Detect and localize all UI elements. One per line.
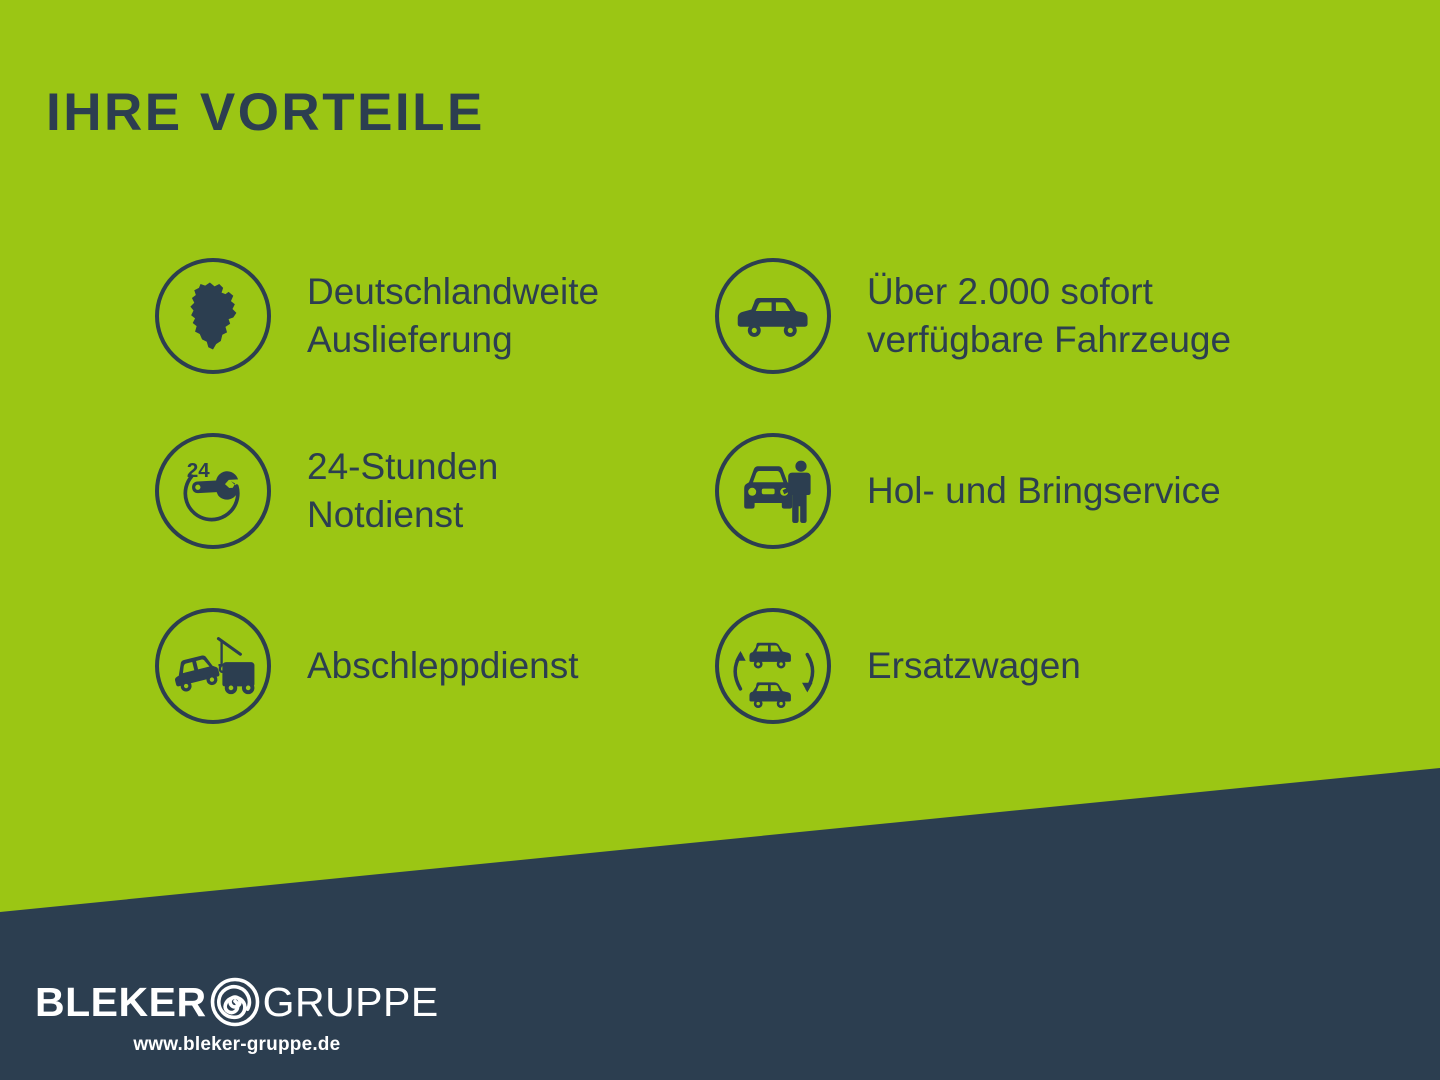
- benefit-item-24-stunden-notdienst[interactable]: 24 24-Stunden Notdienst: [155, 403, 715, 578]
- 24-hour-wrench-icon: 24: [155, 433, 271, 549]
- benefit-label-line: Auslieferung: [307, 316, 599, 363]
- benefit-label-line: Notdienst: [307, 491, 498, 538]
- benefit-label: Über 2.000 sofort verfügbare Fahrzeuge: [867, 268, 1231, 363]
- benefit-item-ersatzwagen[interactable]: Ersatzwagen: [715, 578, 1315, 753]
- logo-text-gruppe: GRUPPE: [263, 982, 439, 1023]
- benefit-label-line: verfügbare Fahrzeuge: [867, 316, 1231, 363]
- svg-text:24: 24: [187, 459, 210, 482]
- benefit-row: Deutschlandweite Auslieferung Über 2.000…: [155, 228, 1375, 403]
- slide-canvas: IHRE VORTEILE Deutschlandweite Ausliefer…: [0, 0, 1440, 1080]
- benefit-label-line: Ersatzwagen: [867, 642, 1081, 689]
- benefit-label: Ersatzwagen: [867, 642, 1081, 689]
- car-side-icon: [715, 258, 831, 374]
- benefit-label: 24-Stunden Notdienst: [307, 443, 498, 538]
- spiral-icon: [208, 975, 262, 1029]
- footer-logo-block[interactable]: BLEKER GRUPPE www.bleker-gruppe.de: [35, 977, 439, 1056]
- benefit-label: Hol- und Bringservice: [867, 467, 1221, 514]
- logo-wordmark: BLEKER GRUPPE: [35, 977, 439, 1027]
- benefit-item-verfuegbare-fahrzeuge[interactable]: Über 2.000 sofort verfügbare Fahrzeuge: [715, 228, 1315, 403]
- benefit-label-line: Deutschlandweite: [307, 268, 599, 315]
- benefit-label-line: Über 2.000 sofort: [867, 268, 1231, 315]
- benefit-item-abschleppdienst[interactable]: Abschleppdienst: [155, 578, 715, 753]
- benefit-label: Deutschlandweite Auslieferung: [307, 268, 599, 363]
- two-cars-exchange-icon: [715, 608, 831, 724]
- logo-url[interactable]: www.bleker-gruppe.de: [35, 1034, 439, 1056]
- tow-truck-icon: [155, 608, 271, 724]
- page-title: IHRE VORTEILE: [46, 86, 485, 139]
- logo-text-bleker: BLEKER: [35, 982, 207, 1023]
- benefit-label-line: Hol- und Bringservice: [867, 467, 1221, 514]
- benefit-row: 24 24-Stunden Notdienst: [155, 403, 1375, 578]
- benefit-label-line: Abschleppdienst: [307, 642, 579, 689]
- benefits-grid: Deutschlandweite Auslieferung Über 2.000…: [155, 228, 1375, 753]
- benefit-item-deutschlandweite-auslieferung[interactable]: Deutschlandweite Auslieferung: [155, 228, 715, 403]
- benefit-label-line: 24-Stunden: [307, 443, 498, 490]
- car-with-driver-icon: [715, 433, 831, 549]
- germany-map-icon: [155, 258, 271, 374]
- benefit-item-hol-und-bringservice[interactable]: Hol- und Bringservice: [715, 403, 1315, 578]
- benefit-label: Abschleppdienst: [307, 642, 579, 689]
- benefit-row: Abschleppdienst: [155, 578, 1375, 753]
